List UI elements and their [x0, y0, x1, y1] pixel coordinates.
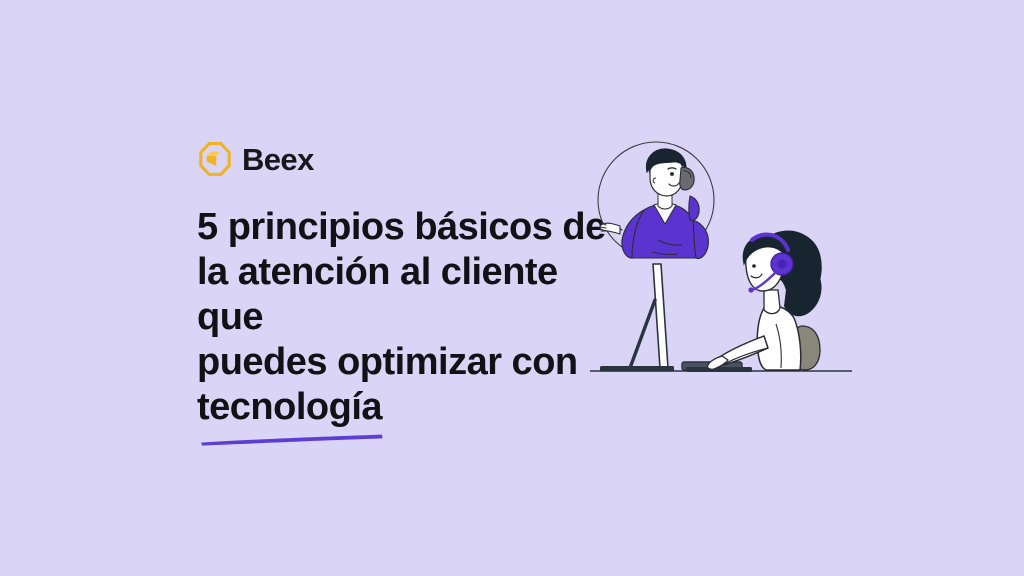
brand-logo[interactable]: Beex [197, 141, 314, 177]
beex-hexagon-logo-icon [197, 141, 233, 177]
headline-line-2: la atención al cliente que [197, 250, 617, 340]
headline-line-4: tecnología [197, 385, 617, 430]
headline-line-3: puedes optimizar con [197, 340, 617, 385]
headline-block: 5 principios básicos de la atención al c… [197, 205, 617, 446]
mobile-phone-icon [680, 167, 694, 190]
brush-underline-stroke-icon [199, 432, 385, 446]
customer-support-illustration [586, 140, 858, 388]
page-title: 5 principios básicos de la atención al c… [197, 205, 617, 430]
promo-banner: Beex 5 principios básicos de la atención… [0, 0, 1024, 576]
brand-name-text: Beex [242, 144, 314, 175]
desktop-monitor [600, 264, 674, 372]
customer-circle-portrait [598, 142, 714, 259]
headline-line-1: 5 principios básicos de [197, 205, 617, 250]
open-hand [600, 223, 620, 234]
